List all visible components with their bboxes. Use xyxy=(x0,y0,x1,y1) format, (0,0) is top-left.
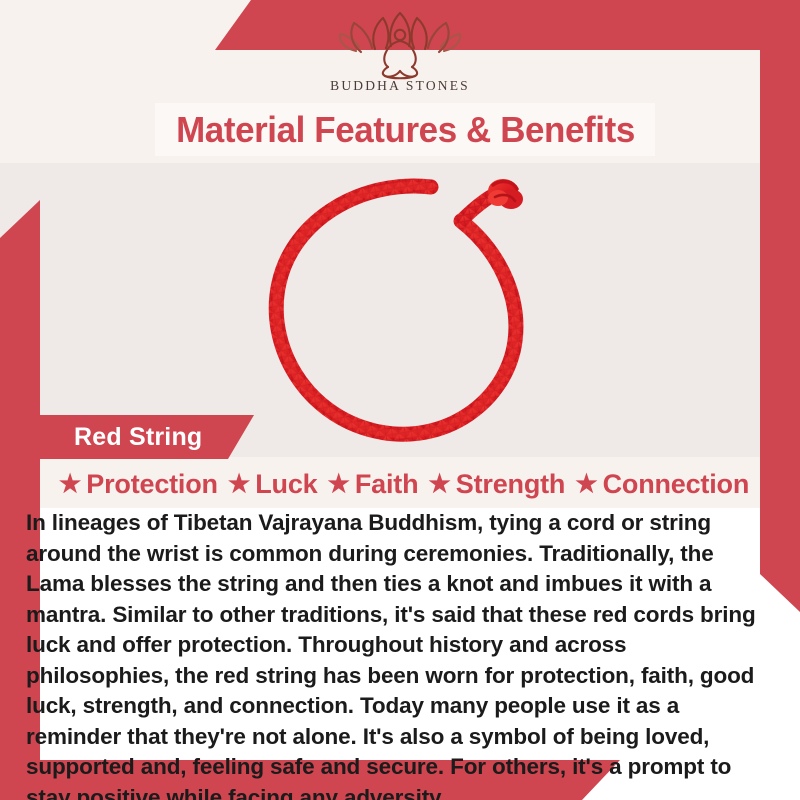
star-icon: ★ xyxy=(428,472,450,497)
product-feature-poster: BUDDHA STONES Material Features & Benefi… xyxy=(0,0,800,800)
brand-name: BUDDHA STONES xyxy=(330,78,470,94)
feature-label: Connection xyxy=(603,469,750,500)
brand-logo: BUDDHA STONES xyxy=(0,8,800,106)
title-banner: Material Features & Benefits xyxy=(155,103,655,156)
description-text: In lineages of Tibetan Vajrayana Buddhis… xyxy=(26,508,770,800)
feature-label: Strength xyxy=(456,469,565,500)
section-label-text: Red String xyxy=(74,423,202,452)
feature-label: Protection xyxy=(86,469,218,500)
feature-item-connection: ★ Connection xyxy=(570,469,754,500)
section-label-ribbon: Red String xyxy=(22,415,254,459)
star-icon: ★ xyxy=(228,472,250,497)
red-string-braided-bracelet-icon xyxy=(235,165,565,455)
star-icon: ★ xyxy=(59,472,81,497)
feature-label: Faith xyxy=(355,469,419,500)
feature-item-faith: ★ Faith xyxy=(322,469,423,500)
feature-item-protection: ★ Protection xyxy=(54,469,223,500)
page-title: Material Features & Benefits xyxy=(176,109,635,151)
star-icon: ★ xyxy=(327,472,349,497)
feature-item-strength: ★ Strength xyxy=(423,469,570,500)
feature-list: ★ Protection ★ Luck ★ Faith ★ Strength ★… xyxy=(28,463,780,505)
product-image xyxy=(40,163,760,457)
feature-item-luck: ★ Luck xyxy=(223,469,323,500)
feature-label: Luck xyxy=(255,469,317,500)
star-icon: ★ xyxy=(575,472,597,497)
lotus-meditation-icon xyxy=(325,8,475,80)
